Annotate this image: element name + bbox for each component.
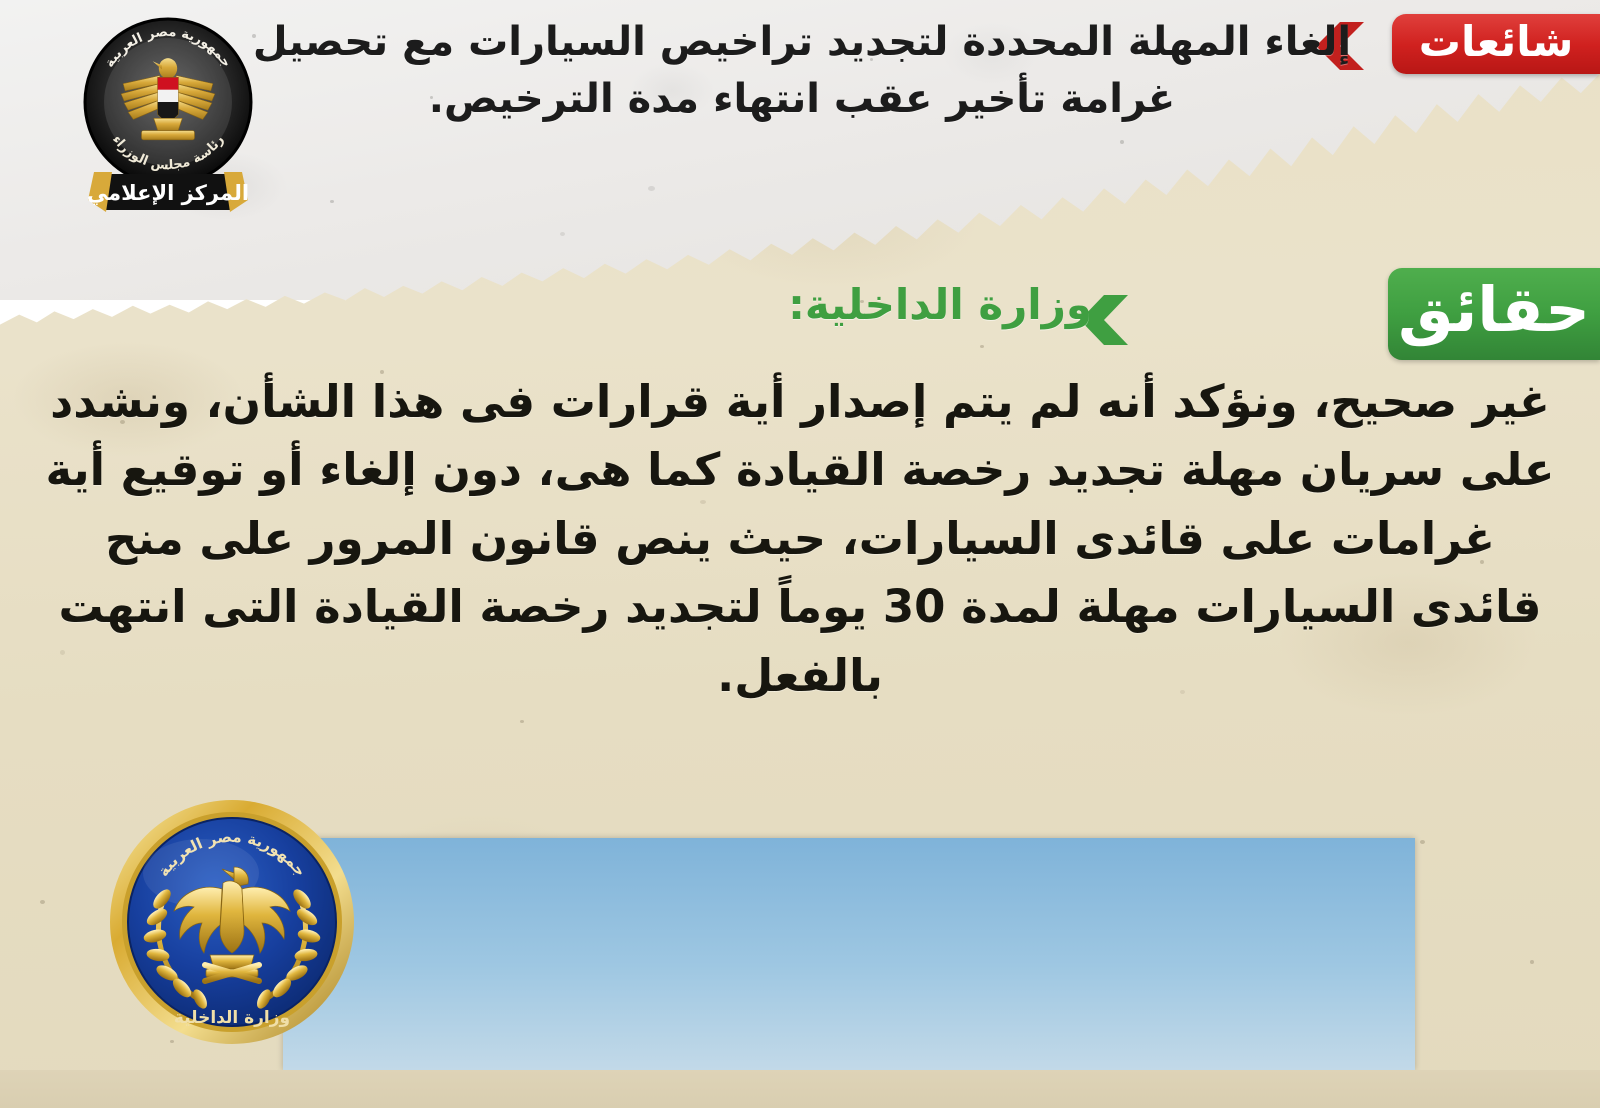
svg-text:وزارة الداخلية: وزارة الداخلية — [174, 1008, 290, 1028]
rumor-badge-label: شائعات — [1419, 21, 1574, 63]
facts-badge: حقائق — [1388, 268, 1600, 360]
svg-text:المركز الإعلامي: المركز الإعلامي — [87, 181, 249, 205]
facts-text: غير صحيح، ونؤكد أنه لم يتم إصدار أية قرا… — [40, 368, 1560, 710]
photo-sky — [283, 838, 1415, 1070]
photo-base-strip — [0, 1070, 1600, 1108]
facts-source-label: وزارة الداخلية: — [788, 284, 1092, 326]
cabinet-media-center-logo: جمهورية مصر العربية رئاسة مجلس الوزراء — [72, 14, 264, 219]
rumor-text: إلغاء المهلة المحددة لتجديد تراخيص السيا… — [242, 14, 1362, 128]
facts-badge-label: حقائق — [1398, 279, 1590, 341]
ministry-of-interior-seal: جمهورية مصر العربية — [105, 795, 360, 1050]
fact-check-card: جمهورية مصر العربية رئاسة مجلس الوزراء — [0, 0, 1600, 1108]
rumor-badge: شائعات — [1392, 14, 1600, 74]
ministry-building-photo: وزارة الداخلية — [283, 838, 1415, 1070]
